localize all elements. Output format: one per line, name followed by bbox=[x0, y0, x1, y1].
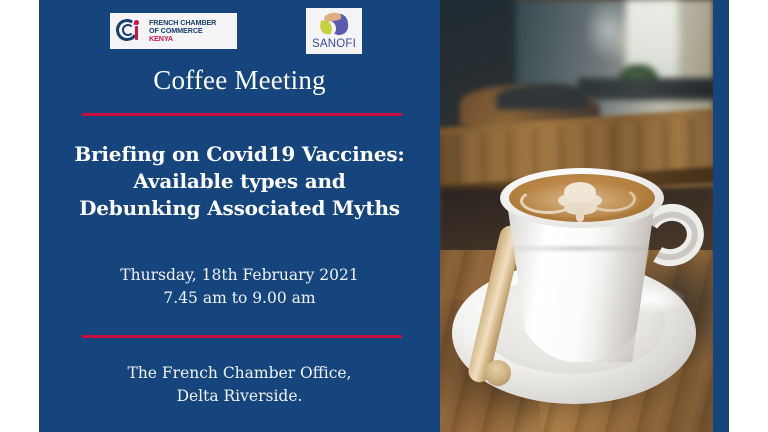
event-headline: Briefing on Covid19 Vaccines: Available … bbox=[48, 141, 431, 223]
headline-line-1: Briefing on Covid19 Vaccines: bbox=[48, 141, 431, 168]
event-flyer: FRENCH CHAMBER OF COMMERCE KENYA SANOFI … bbox=[0, 0, 768, 432]
divider-bottom bbox=[82, 335, 402, 338]
sanofi-wordmark: SANOFI bbox=[312, 38, 356, 50]
venue-line-2: Delta Riverside. bbox=[39, 385, 440, 408]
ci-monogram-icon bbox=[115, 16, 145, 46]
venue-line-1: The French Chamber Office, bbox=[39, 362, 440, 385]
french-chamber-logo: FRENCH CHAMBER OF COMMERCE KENYA bbox=[110, 13, 237, 49]
headline-line-2: Available types and bbox=[48, 168, 431, 195]
photo-cup-seam bbox=[512, 246, 650, 251]
photo-bg-counter bbox=[578, 78, 713, 100]
logo-row: FRENCH CHAMBER OF COMMERCE KENYA SANOFI bbox=[39, 8, 440, 54]
divider-top bbox=[82, 113, 402, 116]
headline-line-3: Debunking Associated Myths bbox=[48, 195, 431, 222]
event-kicker-title: Coffee Meeting bbox=[39, 66, 440, 96]
photo-latte-art-stem bbox=[576, 208, 584, 222]
sanofi-logo: SANOFI bbox=[306, 8, 362, 54]
sanofi-swoosh-leaf-icon bbox=[318, 13, 350, 37]
photo-bg-chair-seat bbox=[496, 84, 588, 110]
event-venue: The French Chamber Office, Delta Riversi… bbox=[39, 362, 440, 409]
coffee-cup-photo bbox=[440, 0, 713, 432]
event-datetime: Thursday, 18th February 2021 7.45 am to … bbox=[39, 264, 440, 310]
event-time: 7.45 am to 9.00 am bbox=[39, 287, 440, 310]
fcc-line-3: KENYA bbox=[149, 35, 216, 43]
french-chamber-wordmark: FRENCH CHAMBER OF COMMERCE KENYA bbox=[149, 19, 216, 43]
photo-latte-art-petal bbox=[564, 182, 596, 202]
event-date: Thursday, 18th February 2021 bbox=[39, 264, 440, 287]
